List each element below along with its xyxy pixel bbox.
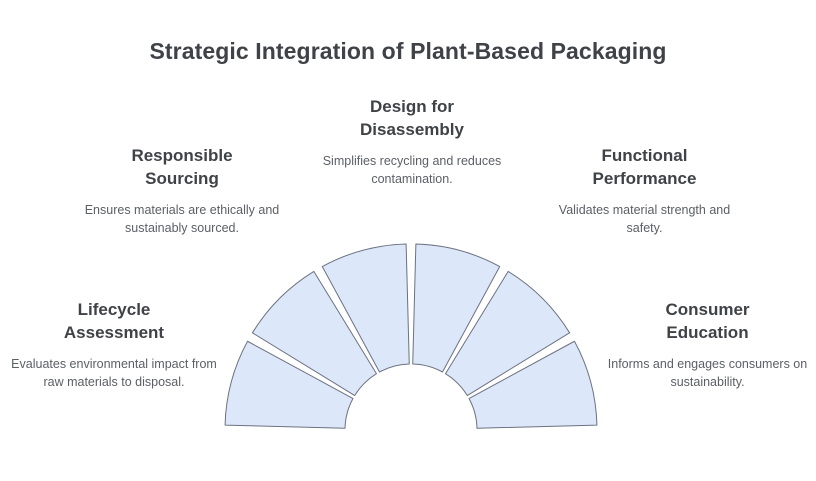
node-title-line1: Responsible [131, 146, 232, 165]
node-title-line2: Education [666, 323, 748, 342]
node-description-lifecycle-assessment: Evaluates environmental impact from raw … [8, 356, 220, 392]
node-title-line1: Design for [370, 97, 454, 116]
node-label-design-for-disassembly[interactable]: Design for Disassembly Simplifies recycl… [307, 95, 517, 188]
node-label-consumer-education[interactable]: Consumer Education Informs and engages c… [604, 298, 811, 391]
node-description-design-for-disassembly: Simplifies recycling and reduces contami… [307, 153, 517, 189]
semicircle-wheel [0, 0, 816, 481]
node-title-line1: Lifecycle [78, 300, 151, 319]
wheel-segment-group [225, 244, 597, 428]
node-title-line1: Consumer [665, 300, 749, 319]
node-title-line2: Disassembly [360, 120, 464, 139]
node-description-consumer-education: Informs and engages consumers on sustain… [604, 356, 811, 392]
node-label-lifecycle-assessment[interactable]: Lifecycle Assessment Evaluates environme… [8, 298, 220, 391]
node-description-responsible-sourcing: Ensures materials are ethically and sust… [82, 202, 282, 238]
node-title-line2: Assessment [64, 323, 164, 342]
node-description-functional-performance: Validates material strength and safety. [543, 202, 746, 238]
node-title-line1: Functional [602, 146, 688, 165]
node-title-line2: Performance [593, 169, 697, 188]
diagram-canvas: Strategic Integration of Plant-Based Pac… [0, 0, 816, 481]
node-title-line2: Sourcing [145, 169, 219, 188]
node-title-consumer-education: Consumer Education [604, 298, 811, 345]
node-label-responsible-sourcing[interactable]: Responsible Sourcing Ensures materials a… [82, 144, 282, 237]
node-label-functional-performance[interactable]: Functional Performance Validates materia… [543, 144, 746, 237]
node-title-responsible-sourcing: Responsible Sourcing [82, 144, 282, 191]
node-title-design-for-disassembly: Design for Disassembly [307, 95, 517, 142]
node-title-lifecycle-assessment: Lifecycle Assessment [8, 298, 220, 345]
node-title-functional-performance: Functional Performance [543, 144, 746, 191]
